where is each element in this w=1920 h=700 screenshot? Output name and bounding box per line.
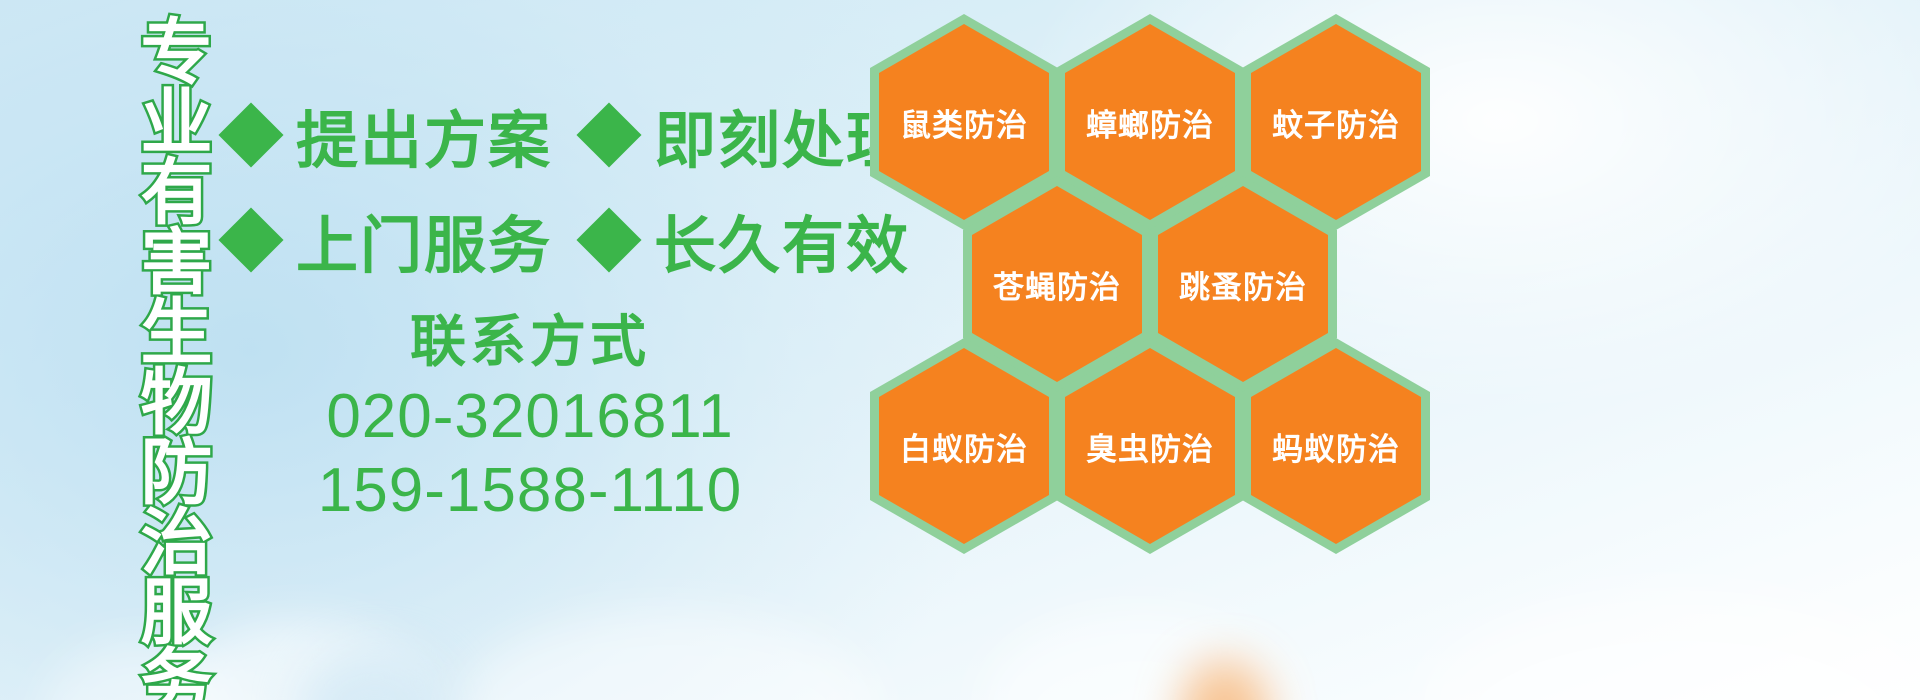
diamond-bullet-icon [576, 102, 641, 167]
background-blur-blob [300, 650, 450, 700]
background-blur-blob [460, 610, 880, 700]
diamond-bullet-icon [218, 102, 283, 167]
service-hexagon-label: 白蚁防治 [900, 424, 1028, 469]
phone-number-landline[interactable]: 020-32016811 [280, 380, 780, 453]
phone-number-mobile[interactable]: 159-1588-1110 [280, 454, 780, 527]
feature-list: 提出方案 即刻处理 上门服务 长久有效 [228, 82, 868, 292]
service-hexagon-label: 鼠类防治 [900, 100, 1028, 145]
pest-control-banner: 专业有害生物防治服务 提出方案 即刻处理 上门服务 长久有效 联系方式 020-… [0, 0, 1920, 700]
background-blur-blob [980, 610, 1300, 700]
diamond-bullet-icon [218, 207, 283, 272]
feature-item-label: 提出方案 [296, 90, 552, 180]
service-hexagon-label: 蟑螂防治 [1086, 100, 1214, 145]
feature-item-label: 上门服务 [296, 195, 552, 285]
contact-label: 联系方式 [280, 310, 780, 374]
diamond-bullet-icon [576, 207, 641, 272]
service-hexagon-label: 臭虫防治 [1086, 424, 1214, 469]
background-blur-blob [1420, 590, 1920, 700]
contact-block: 联系方式 020-32016811 159-1588-1110 [280, 310, 780, 527]
service-hexagon-label: 苍蝇防治 [993, 262, 1121, 307]
service-hexagon-label: 跳蚤防治 [1179, 262, 1307, 307]
background-blur-blob-orange [1180, 660, 1270, 700]
background-blur-blob [170, 620, 430, 700]
service-hexagon-label: 蚊子防治 [1272, 100, 1400, 145]
service-honeycomb: 鼠类防治蟑螂防治蚊子防治苍蝇防治跳蚤防治白蚁防治臭虫防治蚂蚁防治 [856, 0, 1456, 560]
feature-row: 提出方案 即刻处理 [228, 82, 868, 187]
service-hexagon-label: 蚂蚁防治 [1272, 424, 1400, 469]
feature-row: 上门服务 长久有效 [228, 187, 868, 292]
vertical-headline: 专业有害生物防治服务 [106, 14, 202, 700]
